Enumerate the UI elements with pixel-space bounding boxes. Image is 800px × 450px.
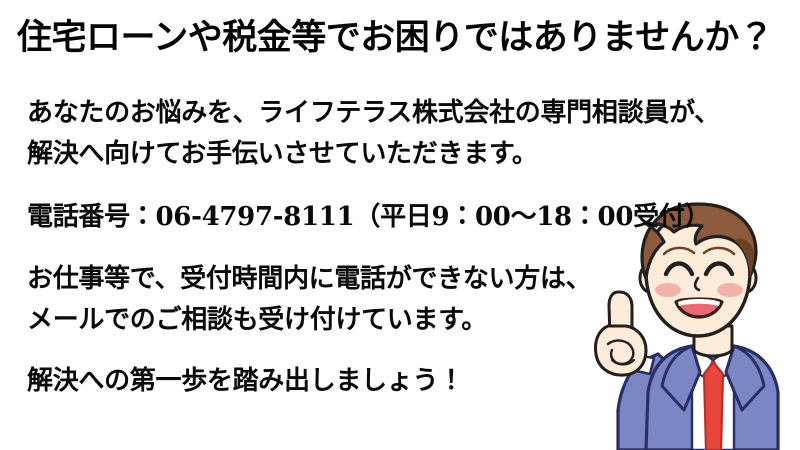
mail-paragraph: お仕事等で、受付時間内に電話ができない方は、 メールでのご相談も受け付けています… <box>27 259 591 341</box>
mail-line-1: お仕事等で、受付時間内に電話ができない方は、 <box>27 259 591 300</box>
page-title: 住宅ローンや税金等でお困りではありませんか？ <box>17 16 773 60</box>
cta-paragraph: 解決への第一歩を踏み出しましょう！ <box>27 361 464 402</box>
mail-line-2: メールでのご相談も受け付けています。 <box>27 300 591 341</box>
phone-line: 電話番号：06-4797-8111（平日9：00～18：00受付） <box>27 197 710 238</box>
cta-line: 解決への第一歩を踏み出しましょう！ <box>27 361 464 402</box>
phone-paragraph: 電話番号：06-4797-8111（平日9：00～18：00受付） <box>27 197 710 238</box>
intro-line-1: あなたのお悩みを、ライフテラス株式会社の専門相談員が、 <box>27 93 720 134</box>
promotional-poster: 住宅ローンや税金等でお困りではありませんか？ あなたのお悩みを、ライフテラス株式… <box>0 0 800 450</box>
text-content-layer: 住宅ローンや税金等でお困りではありませんか？ あなたのお悩みを、ライフテラス株式… <box>0 0 800 450</box>
intro-line-2: 解決へ向けてお手伝いさせていただきます。 <box>27 134 720 175</box>
intro-paragraph: あなたのお悩みを、ライフテラス株式会社の専門相談員が、 解決へ向けてお手伝いさせ… <box>27 93 720 175</box>
